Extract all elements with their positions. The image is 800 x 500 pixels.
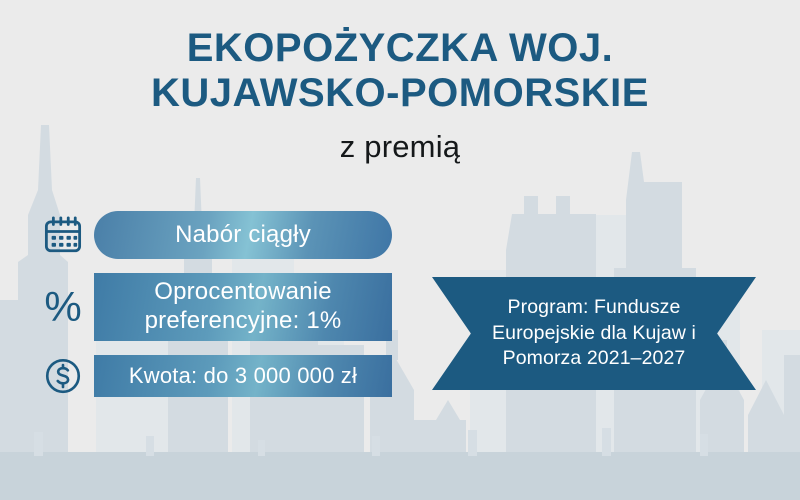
- percent-icon: %: [32, 286, 94, 328]
- badge-nabor-ciagly: Nabór ciągły: [94, 211, 392, 259]
- page-subtitle: z premią: [0, 129, 800, 165]
- header-block: EKOPOŻYCZKA WOJ. KUJAWSKO-POMORSKIE z pr…: [0, 26, 800, 165]
- feature-row-kwota: Kwota: do 3 000 000 zł: [32, 355, 392, 397]
- feature-row-oprocentowanie: % Oprocentowanie preferencyjne: 1%: [32, 273, 392, 341]
- ribbon-line-2: Europejskie dla Kujaw i: [492, 321, 696, 347]
- badge-oprocentowanie: Oprocentowanie preferencyjne: 1%: [94, 273, 392, 341]
- badge-oprocentowanie-line-1: Oprocentowanie: [145, 278, 342, 307]
- badge-oprocentowanie-line-2: preferencyjne: 1%: [145, 307, 342, 336]
- ribbon-line-1: Program: Fundusze: [492, 295, 696, 321]
- page-title-line-1: EKOPOŻYCZKA WOJ.: [0, 26, 800, 71]
- dollar-circle-icon: [32, 355, 94, 397]
- poster-canvas: EKOPOŻYCZKA WOJ. KUJAWSKO-POMORSKIE z pr…: [0, 0, 800, 500]
- percent-glyph: %: [44, 286, 81, 328]
- feature-list: Nabór ciągły % Oprocentowanie preferency…: [32, 211, 392, 397]
- feature-row-nabor: Nabór ciągły: [32, 211, 392, 259]
- program-ribbon: Program: Fundusze Europejskie dla Kujaw …: [432, 277, 756, 390]
- badge-kwota: Kwota: do 3 000 000 zł: [94, 355, 392, 397]
- skyline-ground-poles: [34, 428, 708, 456]
- ribbon-line-3: Pomorza 2021–2027: [492, 346, 696, 372]
- calendar-icon: [32, 214, 94, 256]
- page-title-line-2: KUJAWSKO-POMORSKIE: [0, 71, 800, 116]
- skyline-ground-band: [0, 452, 800, 500]
